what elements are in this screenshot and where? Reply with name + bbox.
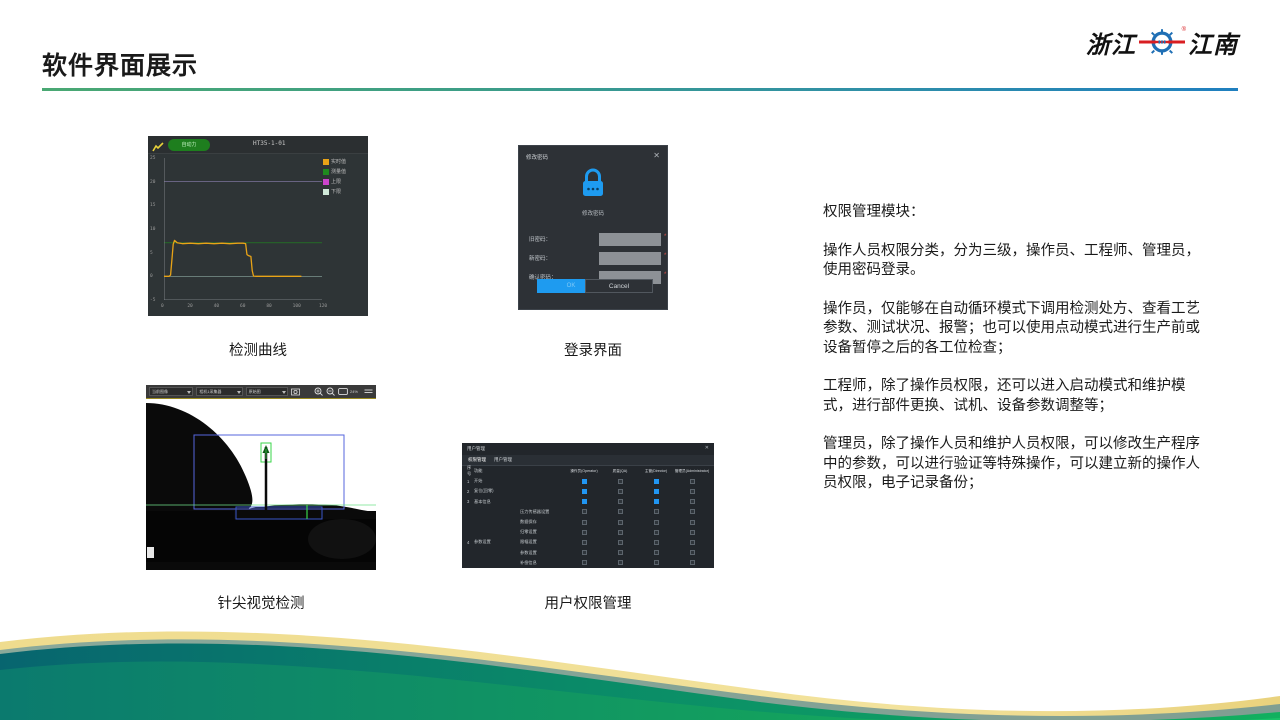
close-icon[interactable]: ✕ (653, 151, 660, 160)
permission-checkbox[interactable] (674, 520, 710, 525)
gear-icon: ® (1139, 27, 1185, 57)
legend-item: 上限 (323, 178, 365, 185)
vision-dropdown-camera[interactable]: 相机1采集器 (196, 387, 242, 396)
permission-checkbox[interactable] (674, 499, 710, 504)
logo-dash-right (1168, 41, 1185, 44)
cell-no: 4 (462, 540, 474, 545)
permission-checkbox[interactable] (638, 520, 674, 525)
screenshot-detection-curve: 自动力 HT35-1-01 OK 7.08 实时值 测量值 上限 下限 2520… (148, 136, 368, 316)
legend-label: 实时值 (331, 158, 346, 165)
permission-table: 序号功能操作员(Operator)质量(QA)主管(Director)管理员(A… (462, 466, 714, 568)
legend-item: 实时值 (323, 158, 365, 165)
cell-function: 复位(回零) (474, 488, 520, 494)
legend-swatch (323, 179, 329, 185)
description-text-block: 权限管理模块： 操作人员权限分类，分为三级，操作员、工程师、管理员，使用密码登录… (823, 203, 1213, 513)
table-row: 压力传感器设置 (462, 507, 714, 517)
legend-label: 上限 (331, 178, 341, 185)
vision-dropdown-view-mode[interactable]: 原始图 (246, 387, 288, 396)
permission-checkbox[interactable] (566, 560, 602, 565)
zoom-in-icon[interactable] (314, 387, 323, 396)
permission-checkbox[interactable] (602, 509, 638, 514)
chart-svg (164, 158, 322, 300)
chart-legend: 实时值 测量值 上限 下限 (323, 158, 365, 198)
cell-sub-function: 限幅设置 (520, 539, 566, 545)
column-header-qa: 质量(QA) (602, 469, 638, 474)
curve-recipe-code: HT35-1-01 (253, 140, 286, 147)
cell-sub-function: 补偿信息 (520, 560, 566, 566)
table-row: 补偿信息 (462, 558, 714, 568)
text-paragraph-3: 工程师，除了操作员权限，还可以进入启动模式和维护模式，进行部件更换、试机、设备参… (823, 377, 1213, 416)
permission-checkbox[interactable] (566, 509, 602, 514)
cell-sub-function: 压力传感器设置 (520, 509, 566, 515)
legend-label: 下限 (331, 188, 341, 195)
registered-mark-icon: ® (1182, 27, 1186, 33)
cell-no: 1 (462, 479, 474, 484)
permission-checkbox[interactable] (602, 520, 638, 525)
screenshot-login-dialog: 修改密码 ✕ 修改密码 旧密码： * 新密码： * 确认密码： * OK Can… (518, 145, 668, 310)
zoom-out-icon[interactable] (326, 387, 335, 396)
permission-checkbox[interactable] (638, 479, 674, 484)
company-logo: 浙江 ® 江南 (1086, 20, 1238, 64)
permission-checkbox[interactable] (674, 530, 710, 535)
vision-toolbar: 当前图像 相机1采集器 原始图 24% (146, 385, 376, 399)
cell-sub-function: 数据保存 (520, 519, 566, 525)
vision-bottom-strip (146, 562, 376, 570)
permission-checkbox[interactable] (602, 530, 638, 535)
cell-no: 3 (462, 499, 474, 504)
vision-dropdown-image-source[interactable]: 当前图像 (149, 387, 193, 396)
new-password-input[interactable] (599, 252, 661, 265)
permission-checkbox[interactable] (602, 550, 638, 555)
chart-y-tick: 5 (150, 251, 153, 256)
caption-detection-curve: 检测曲线 (148, 339, 368, 360)
permission-checkbox[interactable] (602, 560, 638, 565)
cell-function: 开始 (474, 478, 520, 484)
legend-item: 测量值 (323, 168, 365, 175)
table-row: 1开始 (462, 476, 714, 486)
table-row: 数据保存 (462, 517, 714, 527)
permission-checkbox[interactable] (674, 550, 710, 555)
required-mark: * (664, 272, 666, 278)
close-icon[interactable]: ✕ (705, 445, 709, 451)
chart-y-tick: 15 (150, 203, 155, 208)
permission-checkbox[interactable] (674, 479, 710, 484)
permission-checkbox[interactable] (602, 540, 638, 545)
column-header-operator: 操作员(Operator) (566, 469, 602, 474)
permission-checkbox[interactable] (566, 530, 602, 535)
vision-image-canvas[interactable] (146, 399, 376, 562)
permission-checkbox[interactable] (602, 479, 638, 484)
chart-plot-area: 2520151050-5 020406080100120 (164, 158, 322, 300)
title-divider (42, 88, 1238, 91)
permission-checkbox[interactable] (674, 540, 710, 545)
old-password-label: 旧密码： (529, 235, 551, 243)
permission-checkbox[interactable] (638, 540, 674, 545)
column-header-function: 功能 (474, 468, 520, 474)
page-title: 软件界面展示 (42, 46, 198, 82)
permission-checkbox[interactable] (566, 540, 602, 545)
chart-x-tick: 80 (266, 304, 271, 309)
text-heading: 权限管理模块： (823, 203, 1213, 223)
chart-x-tick: 120 (319, 304, 327, 309)
permission-checkbox[interactable] (566, 499, 602, 504)
vision-overlay-svg (146, 399, 376, 562)
chart-x-tick: 40 (214, 304, 219, 309)
footer-wave-decoration (0, 600, 1280, 720)
permission-checkbox[interactable] (566, 489, 602, 494)
permission-checkbox[interactable] (602, 499, 638, 504)
permission-tabs: 权限管理 用户管理 (462, 455, 714, 466)
logo-dash-left (1139, 41, 1156, 44)
permission-checkbox[interactable] (566, 550, 602, 555)
tab-permission-management[interactable]: 权限管理 (468, 457, 486, 463)
chart-x-tick: 20 (187, 304, 192, 309)
permission-checkbox[interactable] (566, 479, 602, 484)
cell-function: 基本信息 (474, 499, 520, 505)
curve-mode-button[interactable]: 自动力 (168, 139, 210, 151)
dialog-subtitle: 修改密码 (519, 209, 667, 217)
screenshot-user-permissions: 用户管理 ✕ 权限管理 用户管理 序号功能操作员(Operator)质量(QA)… (462, 443, 714, 568)
table-row: 参数设置 (462, 548, 714, 558)
column-header-administrator: 管理员(Administrator) (674, 469, 710, 474)
cell-function: 参数设置 (474, 539, 520, 545)
permission-checkbox[interactable] (638, 509, 674, 514)
dialog-title: 修改密码 (526, 153, 548, 161)
permission-checkbox[interactable] (638, 530, 674, 535)
text-paragraph-2: 操作员，仅能够在自动循环模式下调用检测处方、查看工艺参数、测试状况、报警；也可以… (823, 300, 1213, 359)
permission-checkbox[interactable] (638, 550, 674, 555)
line-chart-icon (152, 140, 164, 151)
permission-checkbox[interactable] (638, 489, 674, 494)
fit-screen-icon[interactable] (338, 387, 347, 396)
chart-y-tick: -5 (150, 298, 155, 303)
permission-checkbox[interactable] (674, 560, 710, 565)
column-header-director: 主管(Director) (638, 469, 674, 474)
required-mark: * (664, 234, 666, 240)
table-row: 3基本信息 (462, 497, 714, 507)
cancel-button[interactable]: Cancel (585, 279, 653, 293)
field-row-old-password: 旧密码： * (529, 233, 661, 246)
legend-label: 测量值 (331, 168, 346, 175)
old-password-input[interactable] (599, 233, 661, 246)
vision-zoom-level: 24% (350, 389, 358, 394)
chart-y-tick: 0 (150, 274, 153, 279)
permission-checkbox[interactable] (638, 499, 674, 504)
table-row: 2复位(回零) (462, 486, 714, 496)
legend-swatch (323, 169, 329, 175)
permission-checkbox[interactable] (674, 509, 710, 514)
chart-x-tick: 60 (240, 304, 245, 309)
chart-y-tick: 10 (150, 227, 155, 232)
tab-user-management[interactable]: 用户管理 (494, 457, 512, 463)
permission-checkbox[interactable] (566, 520, 602, 525)
chart-y-tick: 25 (150, 156, 155, 161)
column-header-no: 序号 (462, 465, 474, 477)
table-row: 4参数设置限幅设置 (462, 537, 714, 547)
field-row-new-password: 新密码： * (529, 252, 661, 265)
text-paragraph-1: 操作人员权限分类，分为三级，操作员、工程师、管理员，使用密码登录。 (823, 242, 1213, 281)
new-password-label: 新密码： (529, 254, 551, 262)
camera-icon[interactable] (291, 387, 300, 396)
cell-no: 2 (462, 489, 474, 494)
logo-text-right: 江南 (1188, 25, 1238, 60)
permission-window-title: 用户管理 (467, 446, 485, 452)
permission-checkbox[interactable] (602, 489, 638, 494)
legend-swatch (323, 159, 329, 165)
caption-login-ui: 登录界面 (518, 339, 668, 360)
text-paragraph-4: 管理员，除了操作人员和维护人员权限，可以修改生产程序中的参数，可以进行验证等特殊… (823, 435, 1213, 494)
cell-sub-function: 参数设置 (520, 550, 566, 556)
legend-item: 下限 (323, 188, 365, 195)
screenshot-needle-vision: 当前图像 相机1采集器 原始图 24% (146, 385, 376, 570)
table-row: 归零设置 (462, 527, 714, 537)
logo-text-left: 浙江 (1086, 25, 1136, 60)
menu-icon[interactable] (364, 387, 373, 396)
required-mark: * (664, 253, 666, 259)
permission-checkbox[interactable] (638, 560, 674, 565)
permission-checkbox[interactable] (674, 489, 710, 494)
chart-y-tick: 20 (150, 180, 155, 185)
table-header-row: 序号功能操作员(Operator)质量(QA)主管(Director)管理员(A… (462, 466, 714, 476)
chart-x-tick: 100 (293, 304, 301, 309)
chart-x-tick: 0 (161, 304, 164, 309)
cell-sub-function: 归零设置 (520, 529, 566, 535)
legend-swatch (323, 189, 329, 195)
curve-toolbar: 自动力 HT35-1-01 (148, 136, 368, 154)
lock-icon (580, 168, 606, 203)
